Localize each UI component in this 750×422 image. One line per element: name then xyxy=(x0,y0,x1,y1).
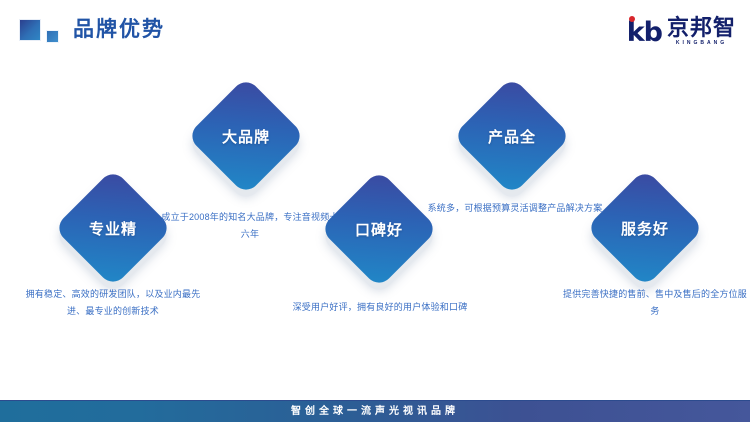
slide-header: 品牌优势 kb 京邦智 KINGBANG xyxy=(0,0,750,60)
advantage-diamond-3[interactable]: 口碑好 xyxy=(320,170,439,289)
page-title: 品牌优势 xyxy=(73,14,165,46)
advantage-label-5: 服务好 xyxy=(603,186,687,270)
logo-wordmark: 京邦智 KINGBANG xyxy=(667,16,736,47)
advantage-diamond-2[interactable]: 大品牌 xyxy=(187,77,306,196)
advantage-diamond-1[interactable]: 专业精 xyxy=(54,169,173,288)
advantage-description-4: 系统多，可根据预算灵活调整产品解决方案 xyxy=(425,200,605,217)
logo-english-name: KINGBANG xyxy=(676,39,727,47)
header-square-small-icon xyxy=(46,30,59,43)
advantage-description-5: 提供完善快捷的售前、售中及售后的全方位服务 xyxy=(563,286,747,320)
advantage-label-4: 产品全 xyxy=(470,94,554,178)
brand-logo: kb 京邦智 KINGBANG xyxy=(627,13,736,47)
advantage-description-1: 拥有稳定、高效的研发团队，以及业内最先进、最专业的创新技术 xyxy=(23,286,203,320)
advantage-description-3: 深受用户好评，拥有良好的用户体验和口碑 xyxy=(290,299,470,316)
advantage-label-2: 大品牌 xyxy=(204,94,288,178)
logo-mark: kb xyxy=(627,19,662,47)
slide-canvas: 品牌优势 kb 京邦智 KINGBANG 专业精 拥有稳定、高效的研发团队，以及… xyxy=(0,0,750,422)
header-square-large-icon xyxy=(19,19,41,41)
footer-slogan: 智创全球一流声光视讯品牌 xyxy=(291,402,459,422)
logo-dot-icon xyxy=(629,16,635,22)
advantage-label-3: 口碑好 xyxy=(337,187,421,271)
logo-chinese-name: 京邦智 xyxy=(667,16,736,39)
advantage-description-2: 成立于2008年的知名大品牌，专注音视频十六年 xyxy=(160,209,340,243)
slide-footer: 智创全球一流声光视讯品牌 xyxy=(0,400,750,422)
advantage-diamond-4[interactable]: 产品全 xyxy=(453,77,572,196)
advantage-diamond-5[interactable]: 服务好 xyxy=(586,169,705,288)
advantage-label-1: 专业精 xyxy=(71,186,155,270)
